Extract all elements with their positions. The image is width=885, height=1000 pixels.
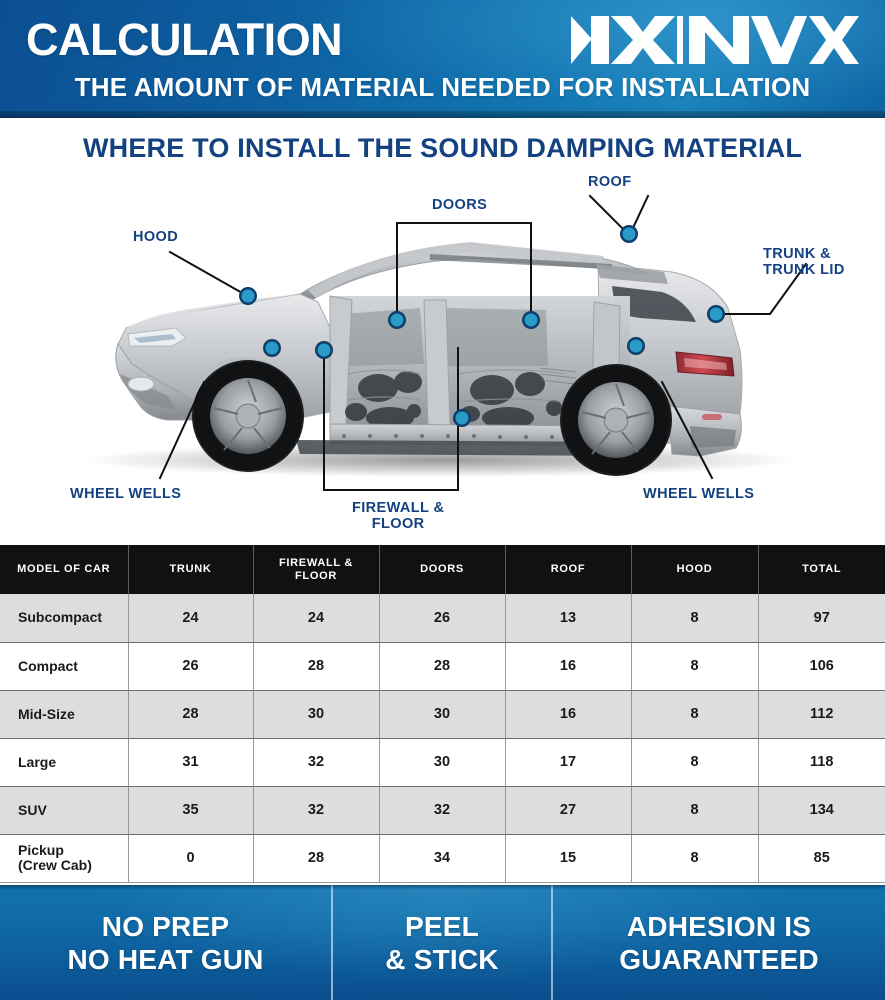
column-header-total: TOTAL <box>758 545 885 594</box>
cell-hood: 8 <box>631 834 758 882</box>
cell-total: 97 <box>758 594 885 642</box>
footer-claim-adhesion: ADHESION IS GUARANTEED <box>551 885 885 1000</box>
cell-roof: 13 <box>505 594 631 642</box>
cell-roof: 27 <box>505 786 631 834</box>
cell-total: 134 <box>758 786 885 834</box>
cell-hood: 8 <box>631 690 758 738</box>
cell-doors: 32 <box>379 786 505 834</box>
cell-model: Compact <box>0 642 128 690</box>
table-row: Compact 26 28 28 16 8 106 <box>0 642 885 690</box>
footer-claim-peel-stick: PEEL & STICK <box>331 885 551 1000</box>
cell-doors: 34 <box>379 834 505 882</box>
cell-doors: 26 <box>379 594 505 642</box>
cell-hood: 8 <box>631 594 758 642</box>
column-header-roof: ROOF <box>505 545 631 594</box>
label-doors: DOORS <box>432 197 487 213</box>
column-header-doors: DOORS <box>379 545 505 594</box>
label-hood: HOOD <box>133 229 178 245</box>
table-row: SUV 35 32 32 27 8 134 <box>0 786 885 834</box>
header-top-row: CALCULATION <box>0 14 885 66</box>
table-body: Subcompact 24 24 26 13 8 97 Compact 26 2… <box>0 594 885 882</box>
cell-hood: 8 <box>631 786 758 834</box>
table-row: Large 31 32 30 17 8 118 <box>0 738 885 786</box>
nvx-logo-graphic <box>569 14 807 66</box>
table-header-row: MODEL OF CAR TRUNK FIREWALL & FLOOR DOOR… <box>0 545 885 594</box>
footer-banner: NO PREP NO HEAT GUN PEEL & STICK ADHESIO… <box>0 885 885 1000</box>
cell-total: 118 <box>758 738 885 786</box>
header-banner: CALCULATION <box>0 0 885 118</box>
column-header-firewall-floor: FIREWALL & FLOOR <box>253 545 379 594</box>
cell-doors: 30 <box>379 738 505 786</box>
cell-trunk: 0 <box>128 834 253 882</box>
cell-trunk: 26 <box>128 642 253 690</box>
cell-doors: 28 <box>379 642 505 690</box>
label-trunk-and-trunk-lid: TRUNK & TRUNK LID <box>763 246 845 278</box>
car-diagram: HOOD DOORS ROOF TRUNK & TRUNK LID WHEEL … <box>0 168 885 540</box>
label-wheel-wells-right: WHEEL WELLS <box>643 486 754 502</box>
cell-hood: 8 <box>631 642 758 690</box>
label-wheel-wells-left: WHEEL WELLS <box>70 486 181 502</box>
cell-trunk: 35 <box>128 786 253 834</box>
cell-roof: 16 <box>505 690 631 738</box>
table-row: Pickup (Crew Cab) 0 28 34 15 8 85 <box>0 834 885 882</box>
cell-total: 106 <box>758 642 885 690</box>
table-header: MODEL OF CAR TRUNK FIREWALL & FLOOR DOOR… <box>0 545 885 594</box>
material-amount-table: MODEL OF CAR TRUNK FIREWALL & FLOOR DOOR… <box>0 545 885 883</box>
cell-firewall-floor: 30 <box>253 690 379 738</box>
cell-total: 85 <box>758 834 885 882</box>
cell-trunk: 24 <box>128 594 253 642</box>
label-roof: ROOF <box>588 174 632 190</box>
cell-firewall-floor: 32 <box>253 786 379 834</box>
cell-model: Subcompact <box>0 594 128 642</box>
nvx-logo <box>569 14 859 66</box>
cell-roof: 17 <box>505 738 631 786</box>
cell-doors: 30 <box>379 690 505 738</box>
table-row: Mid-Size 28 30 30 16 8 112 <box>0 690 885 738</box>
cell-hood: 8 <box>631 738 758 786</box>
cell-model: Pickup (Crew Cab) <box>0 834 128 882</box>
footer-claim-no-prep: NO PREP NO HEAT GUN <box>0 885 331 1000</box>
car-diagram-graphic <box>0 168 885 540</box>
cell-trunk: 28 <box>128 690 253 738</box>
cell-firewall-floor: 32 <box>253 738 379 786</box>
section-heading: WHERE TO INSTALL THE SOUND DAMPING MATER… <box>0 133 885 164</box>
cell-trunk: 31 <box>128 738 253 786</box>
column-header-model: MODEL OF CAR <box>0 545 128 594</box>
cell-firewall-floor: 24 <box>253 594 379 642</box>
table-row: Subcompact 24 24 26 13 8 97 <box>0 594 885 642</box>
header-subtitle: THE AMOUNT OF MATERIAL NEEDED FOR INSTAL… <box>0 72 885 103</box>
cell-roof: 15 <box>505 834 631 882</box>
page-title: CALCULATION <box>26 17 342 63</box>
cell-model: Large <box>0 738 128 786</box>
cell-firewall-floor: 28 <box>253 642 379 690</box>
label-firewall-and-floor: FIREWALL & FLOOR <box>352 500 444 532</box>
cell-firewall-floor: 28 <box>253 834 379 882</box>
nvx-logo-x-glyph <box>809 14 859 66</box>
cell-total: 112 <box>758 690 885 738</box>
column-header-trunk: TRUNK <box>128 545 253 594</box>
cell-model: Mid-Size <box>0 690 128 738</box>
infographic-page: CALCULATION <box>0 0 885 1000</box>
column-header-hood: HOOD <box>631 545 758 594</box>
cell-model: SUV <box>0 786 128 834</box>
cell-roof: 16 <box>505 642 631 690</box>
